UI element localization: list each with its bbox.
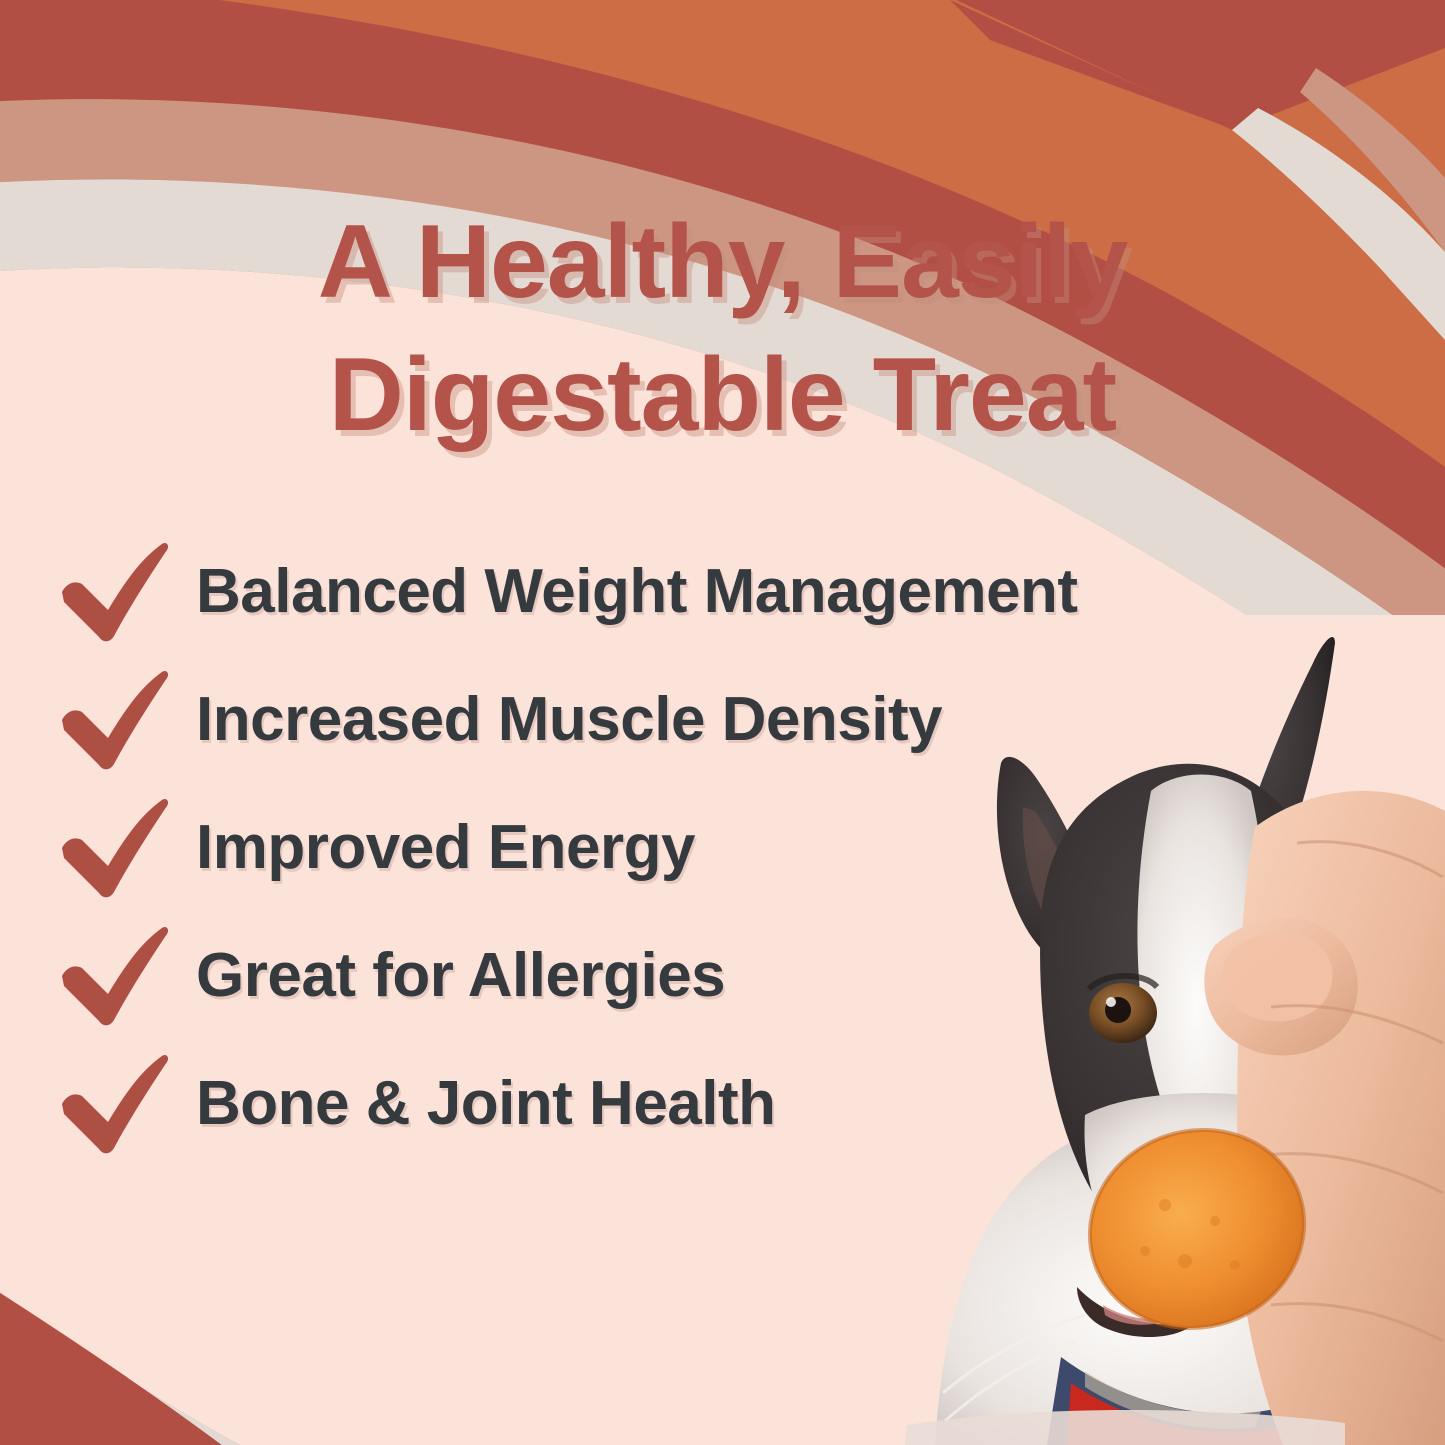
product-benefits-poster: A Healthy, Easily Digestable Treat Balan… <box>0 0 1445 1445</box>
title-line-1: A Healthy, Easily <box>0 196 1445 329</box>
page-title: A Healthy, Easily Digestable Treat <box>0 196 1445 462</box>
checkmark-icon <box>56 796 174 900</box>
benefit-label: Great for Allergies <box>196 945 725 1007</box>
benefit-label: Improved Energy <box>196 817 695 879</box>
benefit-item-1: Increased Muscle Density <box>56 656 1346 784</box>
checkmark-icon <box>56 924 174 1028</box>
benefit-label: Balanced Weight Management <box>196 561 1078 623</box>
checkmark-icon <box>56 1052 174 1156</box>
benefits-list: Balanced Weight Management Increased Mus… <box>56 528 1346 1168</box>
benefit-item-4: Bone & Joint Health <box>56 1040 1346 1168</box>
checkmark-icon <box>56 540 174 644</box>
benefit-item-3: Great for Allergies <box>56 912 1346 1040</box>
benefit-label: Bone & Joint Health <box>196 1073 776 1135</box>
title-line-2: Digestable Treat <box>0 329 1445 462</box>
checkmark-icon <box>56 668 174 772</box>
benefit-label: Increased Muscle Density <box>196 689 942 751</box>
benefit-item-2: Improved Energy <box>56 784 1346 912</box>
benefit-item-0: Balanced Weight Management <box>56 528 1346 656</box>
